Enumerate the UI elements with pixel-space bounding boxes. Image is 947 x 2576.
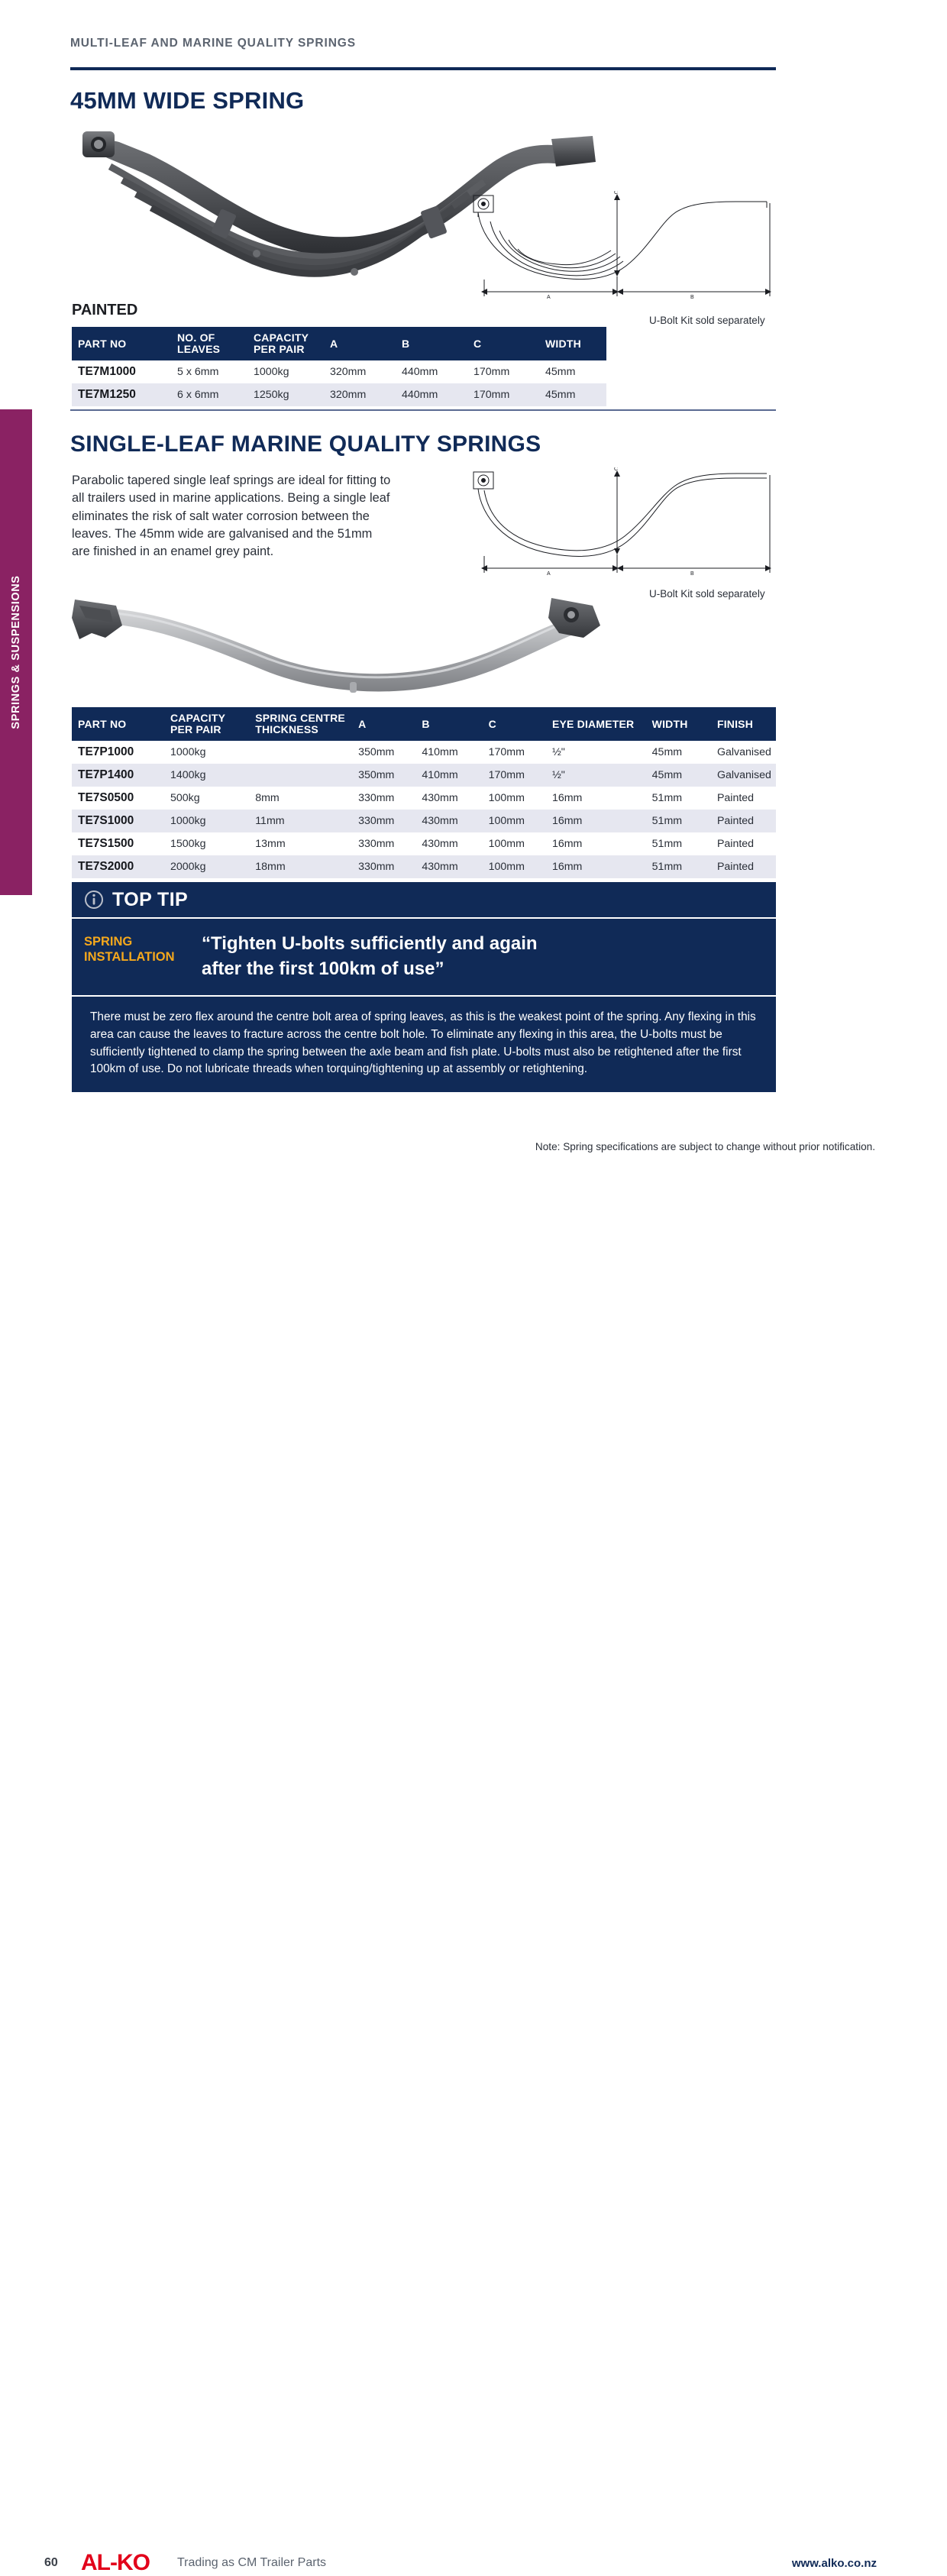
cell-eye-diameter: 16mm — [546, 810, 646, 832]
top-tip-category-line2: INSTALLATION — [84, 949, 197, 965]
page-number: 60 — [44, 2556, 58, 2570]
col-c: C — [483, 707, 546, 741]
cell-capacity: 1250kg — [247, 383, 324, 406]
cell-width: 51mm — [646, 855, 711, 878]
header-rule — [70, 67, 776, 70]
cell-finish: Painted — [711, 810, 776, 832]
table-row: TE7P1000 1000kg 350mm 410mm 170mm ½" 45m… — [72, 741, 776, 764]
cell-part-no: TE7S0500 — [72, 787, 164, 810]
cell-thickness: 8mm — [249, 787, 352, 810]
cell-part-no: TE7M1000 — [72, 360, 171, 383]
table-row: TE7S0500 500kg 8mm 330mm 430mm 100mm 16m… — [72, 787, 776, 810]
cell-c: 170mm — [467, 383, 539, 406]
info-icon — [84, 890, 104, 910]
alko-logo-text: AL-KO — [81, 2550, 150, 2576]
cell-a: 330mm — [352, 832, 415, 855]
cell-thickness: 18mm — [249, 855, 352, 878]
cell-c: 170mm — [483, 741, 546, 764]
cell-part-no: TE7M1250 — [72, 383, 171, 406]
cell-eye-diameter: ½" — [546, 741, 646, 764]
page-root: SPRINGS & SUSPENSIONS MULTI-LEAF AND MAR… — [0, 0, 947, 1340]
col-eye-diameter: EYE DIAMETER — [546, 707, 646, 741]
cell-part-no: TE7P1000 — [72, 741, 164, 764]
top-tip-quote-line1: “Tighten U-bolts sufficiently and again — [202, 931, 764, 956]
table-header-row: PART NO CAPACITY PER PAIR SPRING CENTRE … — [72, 707, 776, 741]
cell-width: 51mm — [646, 810, 711, 832]
cell-b: 430mm — [415, 787, 482, 810]
col-c: C — [467, 327, 539, 360]
cell-c: 100mm — [483, 855, 546, 878]
cell-b: 430mm — [415, 855, 482, 878]
table-row: TE7S1000 1000kg 11mm 330mm 430mm 100mm 1… — [72, 810, 776, 832]
painted-spec-table: PART NO NO. OF LEAVES CAPACITY PER PAIR … — [72, 327, 606, 406]
cell-a: 320mm — [324, 360, 396, 383]
side-tab-label: SPRINGS & SUSPENSIONS — [10, 575, 22, 729]
cell-width: 45mm — [539, 360, 606, 383]
top-tip-panel: TOP TIP SPRING INSTALLATION “Tighten U-b… — [72, 882, 776, 1092]
side-tab-springs-and-suspensions: SPRINGS & SUSPENSIONS — [0, 409, 32, 895]
single-leaf-spring-illustration — [66, 592, 616, 706]
ubolt-note-section1: U-Bolt Kit sold separately — [649, 315, 765, 326]
table-header-row: PART NO NO. OF LEAVES CAPACITY PER PAIR … — [72, 327, 606, 360]
cell-eye-diameter: 16mm — [546, 855, 646, 878]
cell-part-no: TE7S1500 — [72, 832, 164, 855]
section-title-45mm-wide-spring: 45MM WIDE SPRING — [70, 87, 304, 115]
top-tip-quote-line2: after the first 100km of use” — [202, 956, 764, 981]
cell-c: 100mm — [483, 810, 546, 832]
single-leaf-spec-table: PART NO CAPACITY PER PAIR SPRING CENTRE … — [72, 707, 776, 878]
cell-part-no: TE7S1000 — [72, 810, 164, 832]
cell-c: 100mm — [483, 787, 546, 810]
alko-logo: AL-KO — [66, 2550, 165, 2576]
section2-body-text: Parabolic tapered single leaf springs ar… — [72, 472, 393, 561]
cell-finish: Painted — [711, 855, 776, 878]
table-row: TE7M1000 5 x 6mm 1000kg 320mm 440mm 170m… — [72, 360, 606, 383]
cell-a: 330mm — [352, 855, 415, 878]
spec-change-footnote: Note: Spring specifications are subject … — [535, 1141, 875, 1152]
col-b: B — [396, 327, 467, 360]
cell-b: 440mm — [396, 383, 467, 406]
cell-thickness — [249, 764, 352, 787]
cell-width: 45mm — [646, 741, 711, 764]
cell-finish: Painted — [711, 787, 776, 810]
col-part-no: PART NO — [72, 327, 171, 360]
col-width: WIDTH — [646, 707, 711, 741]
page-kicker: MULTI-LEAF AND MARINE QUALITY SPRINGS — [70, 37, 356, 50]
top-tip-title: TOP TIP — [112, 889, 188, 911]
cell-capacity: 1000kg — [247, 360, 324, 383]
cell-width: 51mm — [646, 787, 711, 810]
diagram-label-a: A — [547, 571, 551, 577]
col-b: B — [415, 707, 482, 741]
ubolt-note-section2: U-Bolt Kit sold separately — [649, 588, 765, 600]
cell-width: 51mm — [646, 832, 711, 855]
col-a: A — [324, 327, 396, 360]
cell-thickness: 11mm — [249, 810, 352, 832]
section-divider — [70, 409, 776, 411]
website-url[interactable]: www.alko.co.nz — [792, 2557, 877, 2570]
cell-leaves: 5 x 6mm — [171, 360, 247, 383]
singleleaf-dimension-svg: C A B — [467, 467, 779, 578]
cell-capacity: 1000kg — [164, 810, 249, 832]
trading-as-text: Trading as CM Trailer Parts — [177, 2556, 326, 2570]
section-title-single-leaf-marine: SINGLE-LEAF MARINE QUALITY SPRINGS — [70, 431, 541, 457]
col-a: A — [352, 707, 415, 741]
top-tip-category-line1: SPRING — [84, 934, 197, 949]
col-width: WIDTH — [539, 327, 606, 360]
cell-b: 430mm — [415, 810, 482, 832]
top-tip-body: SPRING INSTALLATION “Tighten U-bolts suf… — [72, 917, 776, 995]
cell-capacity: 2000kg — [164, 855, 249, 878]
col-capacity-per-pair: CAPACITY PER PAIR — [164, 707, 249, 741]
cell-eye-diameter: 16mm — [546, 787, 646, 810]
single-leaf-spring-photo — [66, 592, 616, 706]
diagram-label-a: A — [547, 295, 551, 300]
cell-capacity: 500kg — [164, 787, 249, 810]
cell-finish: Painted — [711, 832, 776, 855]
cell-thickness — [249, 741, 352, 764]
col-finish: FINISH — [711, 707, 776, 741]
table-row: TE7S1500 1500kg 13mm 330mm 430mm 100mm 1… — [72, 832, 776, 855]
col-no-of-leaves: NO. OF LEAVES — [171, 327, 247, 360]
cell-part-no: TE7S2000 — [72, 855, 164, 878]
cell-thickness: 13mm — [249, 832, 352, 855]
top-tip-category: SPRING INSTALLATION — [84, 931, 197, 981]
cell-a: 350mm — [352, 741, 415, 764]
diagram-label-c: C — [614, 191, 618, 196]
cell-finish: Galvanised — [711, 741, 776, 764]
cell-width: 45mm — [539, 383, 606, 406]
cell-a: 330mm — [352, 810, 415, 832]
cell-capacity: 1000kg — [164, 741, 249, 764]
top-tip-header: TOP TIP — [72, 882, 776, 917]
cell-b: 410mm — [415, 741, 482, 764]
diagram-label-c: C — [614, 467, 618, 472]
spring-dimension-diagram-singleleaf: C A B — [467, 467, 779, 578]
cell-capacity: 1400kg — [164, 764, 249, 787]
table-row: TE7M1250 6 x 6mm 1250kg 320mm 440mm 170m… — [72, 383, 606, 406]
col-spring-centre-thickness: SPRING CENTRE THICKNESS — [249, 707, 352, 741]
cell-leaves: 6 x 6mm — [171, 383, 247, 406]
cell-eye-diameter: 16mm — [546, 832, 646, 855]
col-part-no: PART NO — [72, 707, 164, 741]
table-row: TE7S2000 2000kg 18mm 330mm 430mm 100mm 1… — [72, 855, 776, 878]
cell-b: 440mm — [396, 360, 467, 383]
cell-c: 100mm — [483, 832, 546, 855]
cell-finish: Galvanised — [711, 764, 776, 787]
cell-eye-diameter: ½" — [546, 764, 646, 787]
page-footer: 60 AL-KO Trading as CM Trailer Parts www… — [0, 1272, 947, 1317]
top-tip-quote: “Tighten U-bolts sufficiently and again … — [197, 931, 764, 981]
cell-c: 170mm — [467, 360, 539, 383]
diagram-label-b: B — [690, 295, 694, 300]
top-tip-note: There must be zero flex around the centr… — [72, 995, 776, 1092]
diagram-label-b: B — [690, 571, 694, 577]
multileaf-dimension-svg: C A B — [467, 191, 779, 302]
cell-capacity: 1500kg — [164, 832, 249, 855]
cell-b: 430mm — [415, 832, 482, 855]
cell-width: 45mm — [646, 764, 711, 787]
cell-a: 320mm — [324, 383, 396, 406]
spring-dimension-diagram-multileaf: C A B — [467, 191, 779, 302]
cell-part-no: TE7P1400 — [72, 764, 164, 787]
cell-a: 350mm — [352, 764, 415, 787]
cell-a: 330mm — [352, 787, 415, 810]
subsection-label-painted: PAINTED — [72, 302, 137, 319]
col-capacity-per-pair: CAPACITY PER PAIR — [247, 327, 324, 360]
cell-c: 170mm — [483, 764, 546, 787]
table-row: TE7P1400 1400kg 350mm 410mm 170mm ½" 45m… — [72, 764, 776, 787]
cell-b: 410mm — [415, 764, 482, 787]
